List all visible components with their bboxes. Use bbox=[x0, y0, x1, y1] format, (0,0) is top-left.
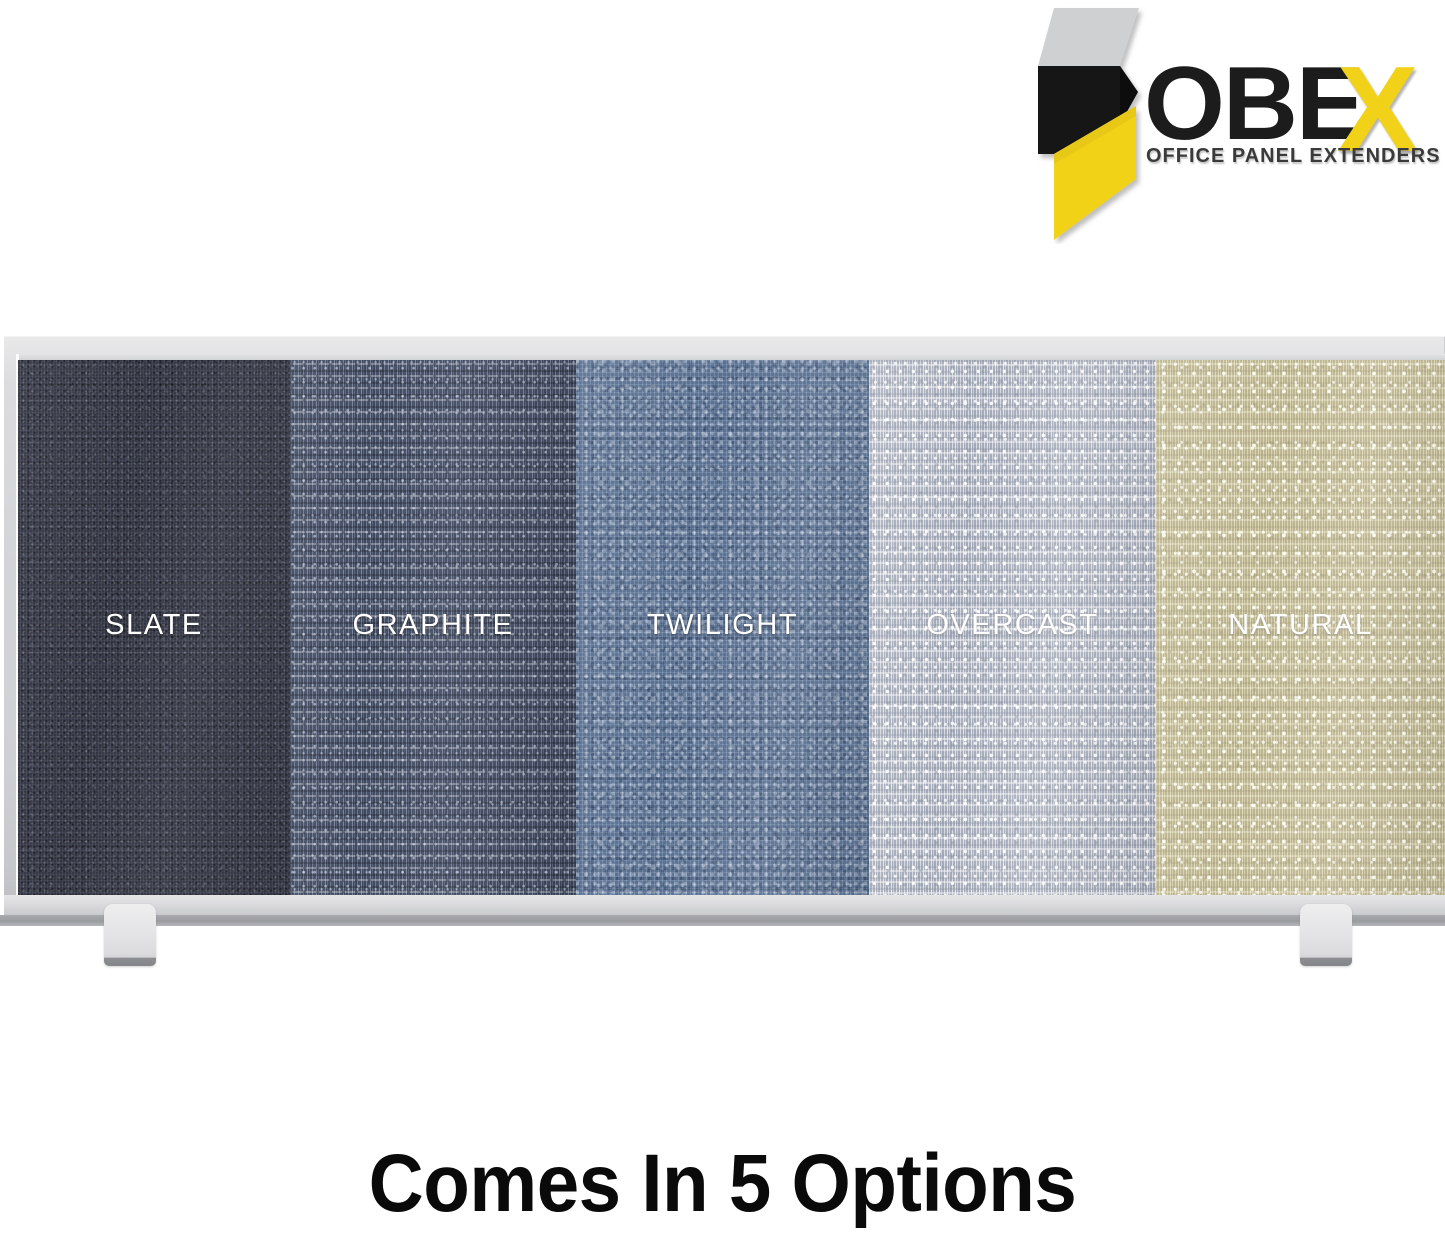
panel-shadow-bar bbox=[0, 915, 1445, 926]
swatch-label-slate: SLATE bbox=[105, 609, 203, 642]
panel-extender-product-image: SLATE GRAPHITE TWILIGHT OVERCAST bbox=[0, 330, 1445, 990]
fabric-swatch-natural[interactable]: NATURAL bbox=[1156, 360, 1445, 895]
obex-chevron-mark-icon bbox=[1032, 4, 1152, 244]
fabric-swatch-twilight[interactable]: TWILIGHT bbox=[576, 360, 869, 895]
swatch-label-natural: NATURAL bbox=[1228, 609, 1372, 642]
swatch-label-twilight: TWILIGHT bbox=[647, 609, 798, 642]
swatch-label-graphite: GRAPHITE bbox=[352, 609, 513, 642]
fabric-swatch-slate[interactable]: SLATE bbox=[18, 360, 290, 895]
fabric-swatch-strip: SLATE GRAPHITE TWILIGHT OVERCAST bbox=[18, 360, 1445, 895]
brand-logo: OBE X OFFICE PANEL EXTENDERS bbox=[1032, 0, 1432, 250]
fabric-swatch-overcast[interactable]: OVERCAST bbox=[869, 360, 1156, 895]
swatch-label-overcast: OVERCAST bbox=[926, 609, 1098, 642]
wordmark-obe: OBE bbox=[1144, 52, 1363, 156]
mounting-bracket-right bbox=[1300, 904, 1352, 966]
caption-comes-in-5-options: Comes In 5 Options bbox=[51, 1140, 1395, 1228]
fabric-swatch-graphite[interactable]: GRAPHITE bbox=[290, 360, 576, 895]
frame-bottom-rail bbox=[4, 895, 1445, 915]
brand-tagline: OFFICE PANEL EXTENDERS bbox=[1146, 144, 1441, 168]
mounting-bracket-left bbox=[104, 904, 156, 966]
obex-wordmark: OBE X OFFICE PANEL EXTENDERS bbox=[1144, 52, 1434, 180]
